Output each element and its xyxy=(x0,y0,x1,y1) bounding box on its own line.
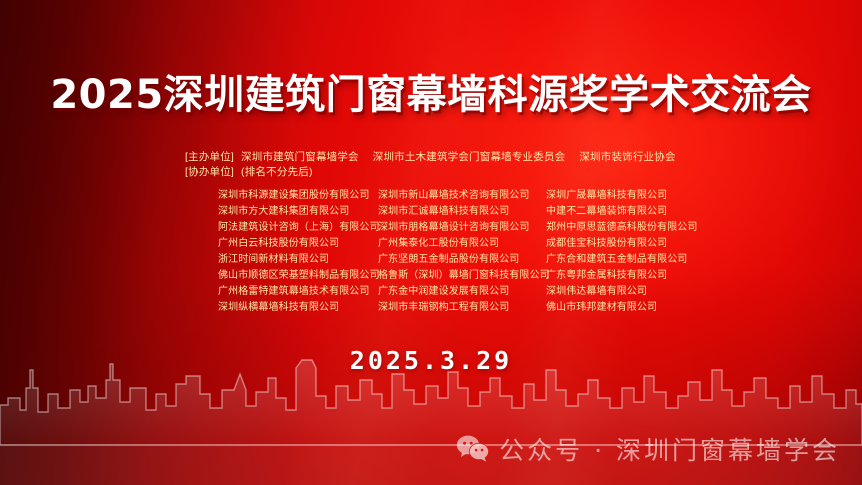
host-name-1: 深圳市建筑门窗幕墙学会 xyxy=(241,151,359,163)
sponsor-item: 深圳市汇诚幕墙科技有限公司 xyxy=(378,204,546,220)
sponsor-item: 广州白云科技股份有限公司 xyxy=(218,236,378,252)
host-name-3: 深圳市装饰行业协会 xyxy=(579,151,675,163)
host-name-2: 深圳市土木建筑学会门窗幕墙专业委员会 xyxy=(373,151,566,163)
sponsor-item: 深圳市方大建科集团有限公司 xyxy=(218,204,378,220)
sponsor-item: 阿法建筑设计咨询（上海）有限公司 xyxy=(218,220,378,236)
event-date: 2025.3.29 xyxy=(0,346,862,375)
host-label: [主办单位] xyxy=(185,151,234,163)
sponsor-item: 广东金中润建设发展有限公司 xyxy=(378,284,546,300)
sponsor-item: 深圳伟达幕墙有限公司 xyxy=(546,284,698,300)
organizer-block: [主办单位]深圳市建筑门窗幕墙学会深圳市土木建筑学会门窗幕墙专业委员会深圳市装饰… xyxy=(185,150,676,180)
watermark-text: 公众号 · 深圳门窗幕墙学会 xyxy=(499,431,840,467)
sponsor-item: 深圳市丰瑞钢构工程有限公司 xyxy=(378,300,546,316)
watermark: 公众号 · 深圳门窗幕墙学会 xyxy=(456,431,840,467)
sponsor-item: 深圳市科源建设集团股份有限公司 xyxy=(218,188,378,204)
coorganizer-note: (排名不分先后) xyxy=(241,166,313,178)
wechat-icon xyxy=(456,434,490,464)
sponsor-item: 浙江时间新材料有限公司 xyxy=(218,252,378,268)
sponsor-item: 中建不二幕墙装饰有限公司 xyxy=(546,204,698,220)
sponsor-item: 广州集泰化工股份有限公司 xyxy=(378,236,546,252)
sponsor-item: 郑州中原思蓝德高科股份有限公司 xyxy=(546,220,698,236)
sponsor-item: 佛山市顺德区荣基塑料制品有限公司 xyxy=(218,268,378,284)
sponsor-item: 广东坚朗五金制品股份有限公司 xyxy=(378,252,546,268)
coorganizer-label: [协办单位] xyxy=(185,166,234,178)
sponsor-item: 深圳市朋格幕墙设计咨询有限公司 xyxy=(378,220,546,236)
poster-title: 2025深圳建筑门窗幕墙科源奖学术交流会 xyxy=(0,62,862,120)
sponsor-item: 广东合和建筑五金制品有限公司 xyxy=(546,252,698,268)
coorganizer-line: [协办单位](排名不分先后) xyxy=(185,165,676,180)
sponsor-item: 格鲁斯（深圳）幕墙门窗科技有限公司 xyxy=(378,268,546,284)
sponsor-item: 广州格雷特建筑幕墙技术有限公司 xyxy=(218,284,378,300)
sponsor-item: 成都佳宝科技股份有限公司 xyxy=(546,236,698,252)
host-line: [主办单位]深圳市建筑门窗幕墙学会深圳市土木建筑学会门窗幕墙专业委员会深圳市装饰… xyxy=(185,150,676,165)
poster-canvas: 2025深圳建筑门窗幕墙科源奖学术交流会 [主办单位]深圳市建筑门窗幕墙学会深圳… xyxy=(0,0,862,485)
sponsor-item: 广东粤邦金属科技有限公司 xyxy=(546,268,698,284)
sponsor-list: 深圳市科源建设集团股份有限公司 深圳市新山幕墙技术咨询有限公司 深圳广晟幕墙科技… xyxy=(218,188,698,316)
sponsor-item: 佛山市玮邦建材有限公司 xyxy=(546,300,698,316)
sponsor-item: 深圳纵横幕墙科技有限公司 xyxy=(218,300,378,316)
sponsor-item: 深圳市新山幕墙技术咨询有限公司 xyxy=(378,188,546,204)
sponsor-item: 深圳广晟幕墙科技有限公司 xyxy=(546,188,698,204)
